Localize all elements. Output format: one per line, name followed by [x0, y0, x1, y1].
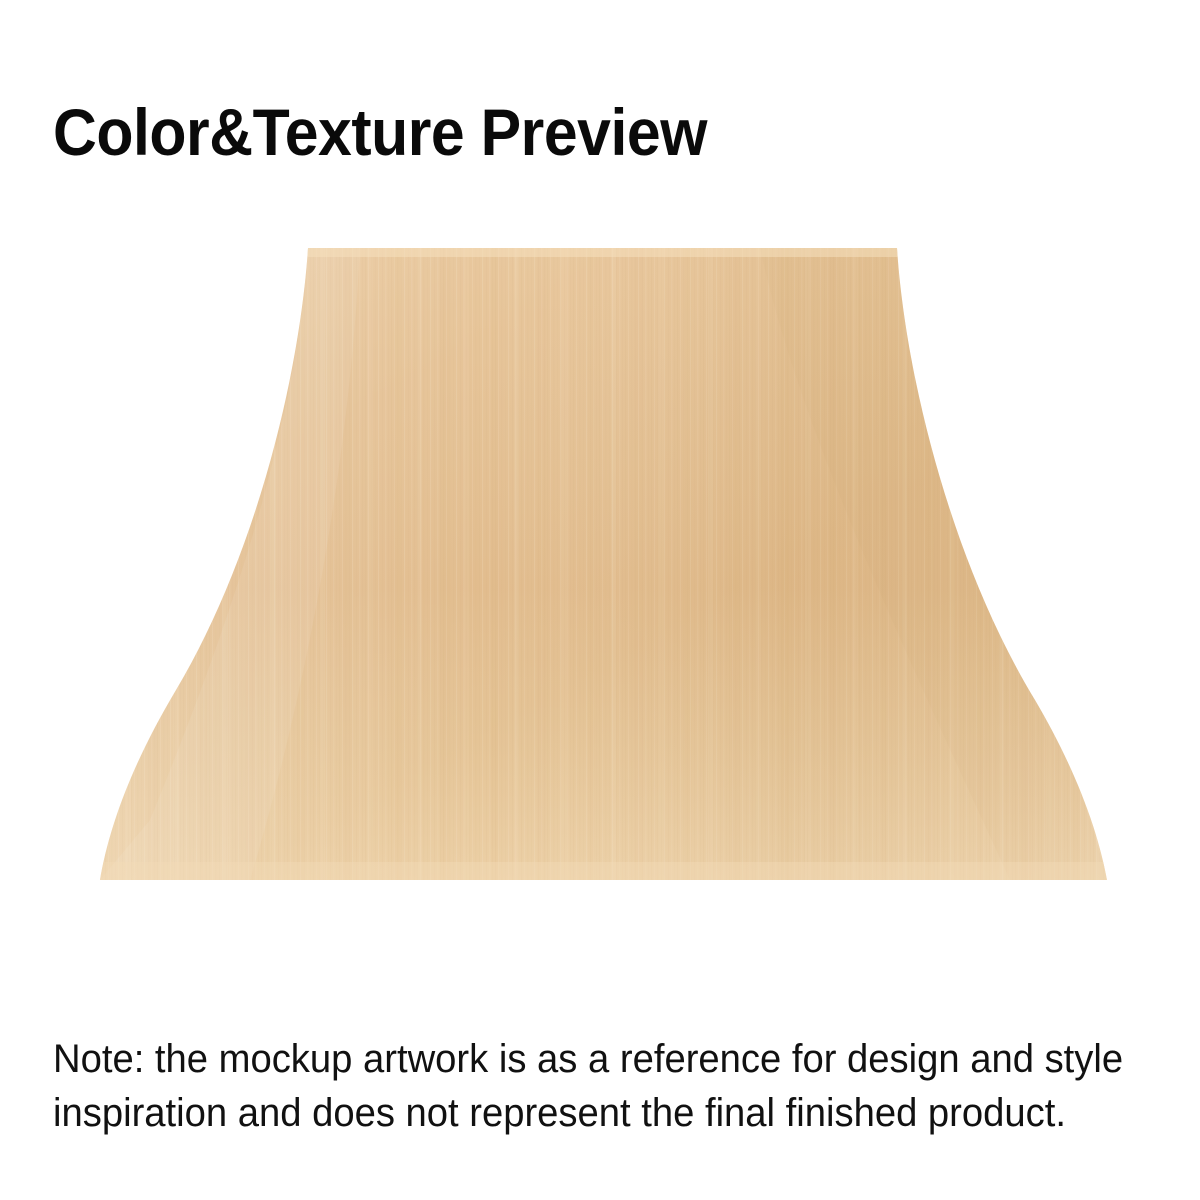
swatch-stage: [0, 0, 1200, 980]
wood-veneer-swatch: [0, 0, 1200, 980]
preview-page: Color&Texture Preview: [0, 0, 1200, 1200]
swatch-surface: [0, 0, 1200, 980]
disclaimer-line-1: Note: the mockup artwork is as a referen…: [53, 1032, 1113, 1086]
top-edge-lip: [0, 248, 1200, 257]
disclaimer-line-2: inspiration and does not represent the f…: [53, 1086, 1113, 1140]
disclaimer-note: Note: the mockup artwork is as a referen…: [53, 1032, 1113, 1140]
bottom-edge-lip: [0, 862, 1200, 880]
